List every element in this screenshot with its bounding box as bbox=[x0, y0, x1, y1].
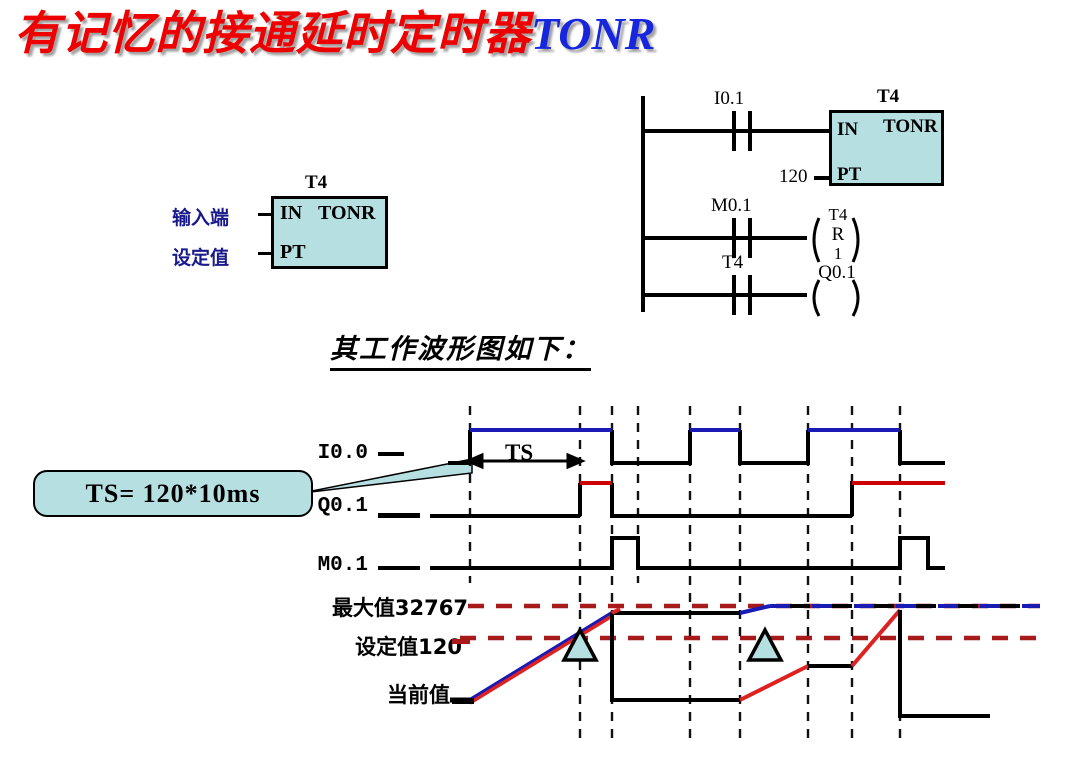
ladder-pt-wire bbox=[814, 176, 831, 180]
contact-t4-left bbox=[732, 275, 736, 315]
tick-m01 bbox=[378, 566, 420, 570]
symbol-timer-name: T4 bbox=[305, 172, 327, 194]
ladder-in-port: IN bbox=[837, 119, 858, 141]
ladder-contact-label-i01: I0.1 bbox=[714, 88, 744, 110]
signal-trace-i00 bbox=[448, 430, 945, 463]
coil-reset-bottom: 1 bbox=[811, 244, 865, 264]
marker-triangle-2 bbox=[749, 630, 781, 660]
tick-q01 bbox=[378, 513, 420, 518]
symbol-pt-label: 设定值 bbox=[172, 243, 229, 270]
marker-triangle-1 bbox=[564, 630, 596, 660]
ladder-timer-name: T4 bbox=[877, 86, 899, 108]
page-title-en: TONR bbox=[531, 6, 655, 62]
contact-t4-right bbox=[748, 275, 752, 315]
waveform-subtitle: 其工作波形图如下： bbox=[330, 327, 591, 371]
ladder-rung1-wire bbox=[641, 129, 831, 133]
current-value-trace bbox=[450, 606, 1040, 716]
signal-trace-m01 bbox=[430, 538, 945, 568]
ts-arrow bbox=[468, 455, 582, 467]
contact-i01-left bbox=[732, 111, 736, 151]
symbol-pt-wire bbox=[258, 252, 274, 255]
chart-gridlines bbox=[470, 406, 900, 743]
coil-reset-top: T4 bbox=[811, 205, 865, 225]
ts-callout-box: TS= 120*10ms bbox=[33, 470, 313, 517]
ladder-pt-port: PT bbox=[837, 164, 861, 186]
preset-cross-markers bbox=[564, 630, 781, 660]
coil-output-label: Q0.1 bbox=[805, 262, 869, 284]
ladder-rung3-wire bbox=[641, 293, 807, 297]
symbol-pt-port: PT bbox=[280, 241, 306, 264]
timing-chart bbox=[420, 398, 1060, 763]
axis-label-current: 当前值 bbox=[200, 679, 450, 709]
signal-trace-q01 bbox=[430, 483, 945, 516]
page-title-cn: 有记忆的接通延时定时器 bbox=[14, 6, 531, 62]
contact-m01-right bbox=[748, 218, 752, 258]
symbol-in-wire bbox=[258, 213, 274, 216]
tick-current bbox=[452, 698, 474, 704]
ladder-contact-label-t4: T4 bbox=[722, 252, 743, 274]
symbol-in-label: 输入端 bbox=[172, 203, 229, 230]
signal-label-m01: M0.1 bbox=[250, 554, 368, 577]
tick-preset bbox=[452, 639, 470, 644]
tick-i00 bbox=[378, 452, 404, 456]
contact-i01-right bbox=[748, 111, 752, 151]
symbol-instruction: TONR bbox=[318, 202, 375, 225]
ladder-contact-label-m01: M0.1 bbox=[711, 195, 752, 217]
page-title: 有记忆的接通延时定时器TONR bbox=[14, 6, 1064, 68]
ladder-preset-value: 120 bbox=[779, 166, 808, 188]
symbol-in-port: IN bbox=[280, 202, 302, 225]
ladder-rung2-wire bbox=[641, 236, 807, 240]
slide-root: 有记忆的接通延时定时器TONR T4 IN TONR PT 输入端 设定值 I0… bbox=[0, 0, 1080, 755]
coil-reset-mid: R bbox=[811, 224, 865, 246]
ladder-instruction: TONR bbox=[883, 116, 938, 138]
